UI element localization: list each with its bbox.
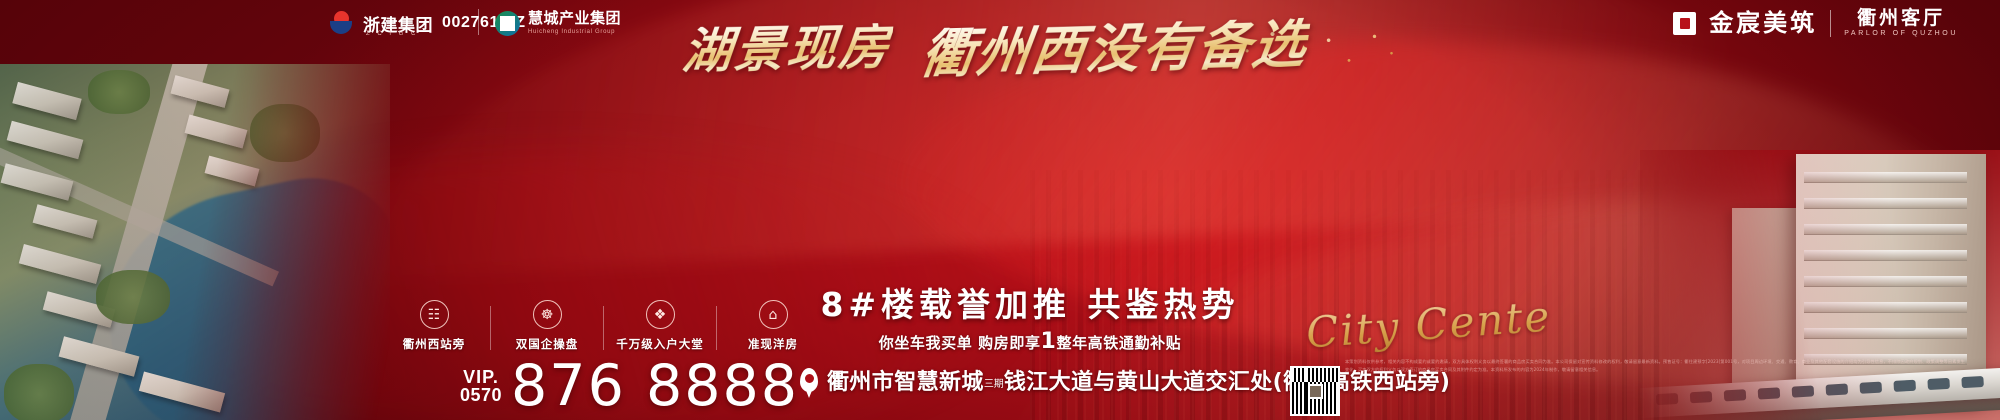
vip-label: VIP. [463,368,499,386]
huicheng-logo-group[interactable]: 慧城产业集团 Huicheng Industrial Group [495,8,621,38]
address-separator: 三期 [984,379,1004,390]
zhejiang-construction-logo-icon [330,11,354,35]
city-center-script: City Cente [1305,292,1553,358]
vip-label-group: VIP. 0570 [460,368,502,404]
feature-badges: ☷ 衢州西站旁 ☸ 双国企操盘 ❖ 千万级入户大堂 ⌂ 准现洋房 [378,300,829,352]
building-icon: ☸ [533,300,562,329]
lobby-icon: ❖ [646,300,675,329]
promo-sub-pre: 你坐车我买单 购房即享 [879,334,1041,352]
feature-item-1[interactable]: ☸ 双国企操盘 [491,300,603,352]
promo-subheading: 你坐车我买单 购房即享1整年高铁通勤补贴 [770,329,1290,354]
jinchen-brand-group[interactable]: 金宸美筑 衢州客厅 PARLOR OF QUZHOU [1673,6,1958,40]
aerial-site-photo [0,64,390,420]
jinchen-brand-name: 金宸美筑 [1709,11,1817,35]
legal-disclaimer: 本策划资料仅供参考，相关内容不构成要约或要约邀请，双方具体权利义务以最终签署的商… [1345,358,1965,374]
header-bar: 浙建集团 002761 SZ Z C I G C 慧城产业集团 Huicheng… [0,0,2000,46]
zhejiang-construction-pinyin: Z C I G C [366,31,418,37]
feature-item-2[interactable]: ❖ 千万级入户大堂 [604,300,716,352]
feature-label-0: 衢州西站旁 [403,336,466,352]
promo-block: 8#楼载誉加推 共鉴热势 你坐车我买单 购房即享1整年高铁通勤补贴 [770,288,1290,354]
feature-item-0[interactable]: ☷ 衢州西站旁 [378,300,490,352]
promo-sub-post: 整年高铁通勤补贴 [1056,334,1181,352]
location-pin-icon [800,368,818,392]
parlor-of-quzhou-cn: 衢州客厅 [1857,9,1945,28]
promo-heading: 8#楼载誉加推 共鉴热势 [770,288,1290,323]
promo-sub-number: 1 [1041,329,1057,354]
contact-phone[interactable]: VIP. 0570 876 8888 [460,360,799,412]
header-divider-1 [478,9,479,35]
brand-divider [1830,10,1831,37]
feature-label-2: 千万级入户大堂 [616,336,704,352]
advertisement-banner: 浙建集团 002761 SZ Z C I G C 慧城产业集团 Huicheng… [0,0,2000,420]
area-code: 0570 [460,386,502,404]
huicheng-name-cn: 慧城产业集团 [528,11,621,26]
address-city: 衢州市智慧新城 [827,370,984,395]
huicheng-industrial-logo-icon [495,11,520,36]
train-icon: ☷ [420,300,449,329]
huicheng-name-en: Huicheng Industrial Group [528,29,621,35]
parlor-of-quzhou-en: PARLOR OF QUZHOU [1844,30,1958,37]
residential-building-photo [1640,150,2000,420]
wechat-qr-code[interactable] [1290,366,1340,416]
jinchen-square-logo-icon [1673,12,1696,35]
feature-label-1: 双国企操盘 [516,336,579,352]
phone-number: 876 8888 [511,360,799,412]
